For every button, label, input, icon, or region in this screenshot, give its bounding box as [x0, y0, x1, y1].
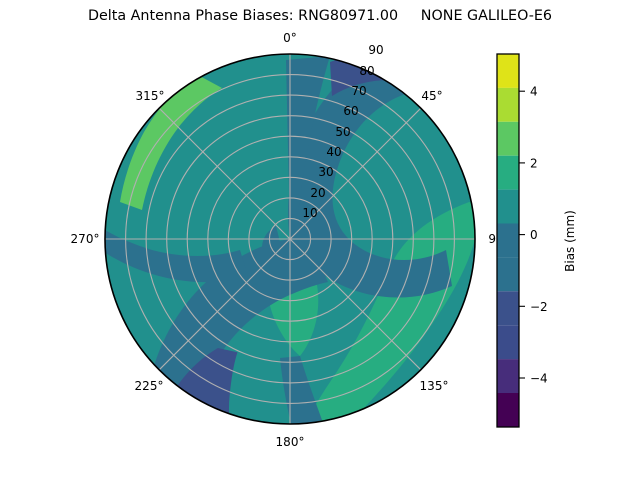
colorbar-band-5 [497, 224, 519, 258]
colorbar-band-8 [497, 122, 519, 156]
angular-tick-225: 225° [135, 379, 164, 393]
colorbar-tick-label-2: 2 [530, 156, 538, 170]
radial-tick-60: 60 [343, 104, 358, 118]
colorbar-tick-label-4: 4 [530, 85, 538, 99]
colorbar-band-9 [497, 88, 519, 122]
colorbar-band-10 [497, 54, 519, 88]
radial-tick-80: 80 [359, 64, 374, 78]
angular-tick-315: 315° [136, 89, 165, 103]
radial-tick-30: 30 [318, 165, 333, 179]
colorbar-band-4 [497, 257, 519, 291]
angular-tick-0: 0° [283, 31, 297, 45]
colorbar-tick-label-neg4: −4 [530, 372, 548, 386]
angular-tick-135: 135° [420, 379, 449, 393]
colorbar-band-3 [497, 291, 519, 325]
radial-tick-10: 10 [302, 206, 317, 220]
colorbar-band-1 [497, 359, 519, 393]
polar-grid [105, 54, 475, 424]
colorbar-tick-label-neg2: −2 [530, 300, 548, 314]
polar-data-field [96, 43, 476, 456]
angular-tick-180: 180° [276, 435, 305, 449]
polar-plot-canvas: 0° 45° 90 135° 180° 225° 270° 315° 10 20… [0, 0, 640, 480]
colorbar-swatches [497, 54, 519, 427]
colorbar-band-7 [497, 156, 519, 190]
colorbar-tick-label-0: 0 [530, 228, 538, 242]
colorbar-band-2 [497, 325, 519, 359]
colorbar-band-6 [497, 190, 519, 224]
colorbar[interactable]: 4 2 0 −2 −4 Bias (mm) [497, 54, 577, 427]
colorbar-axis-label: Bias (mm) [563, 210, 577, 272]
radial-tick-40: 40 [326, 145, 341, 159]
polar-bias-figure: Delta Antenna Phase Biases: RNG80971.00 … [0, 0, 640, 480]
colorbar-band-0 [497, 393, 519, 427]
radial-tick-20: 20 [310, 186, 325, 200]
radial-tick-70: 70 [351, 84, 366, 98]
angular-tick-45: 45° [421, 89, 442, 103]
radial-tick-50: 50 [335, 125, 350, 139]
angular-tick-270: 270° [71, 232, 100, 246]
radial-tick-90: 90 [368, 43, 383, 57]
